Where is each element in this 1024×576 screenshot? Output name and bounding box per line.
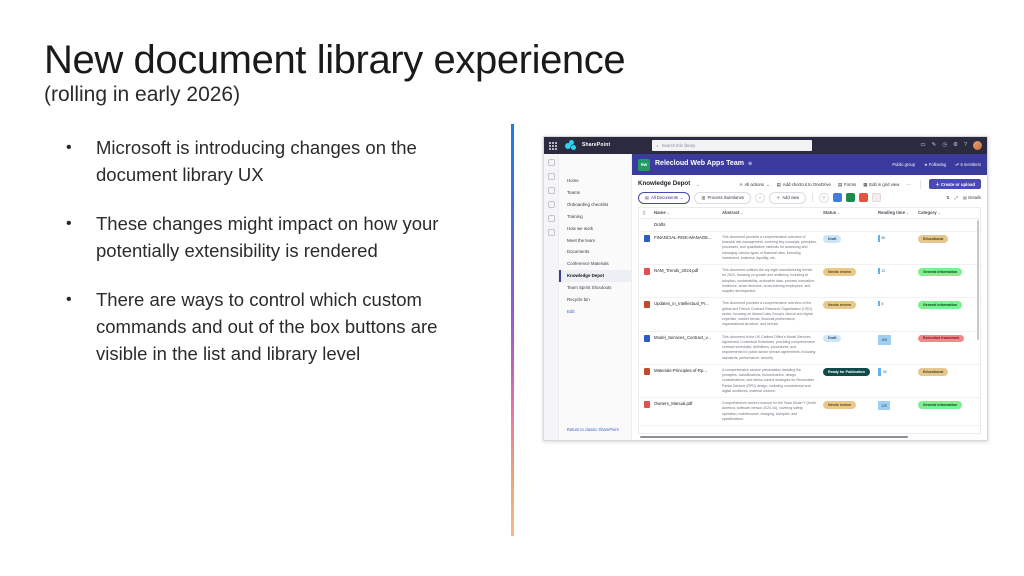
chevron-down-icon: ⌄ [766, 182, 770, 187]
sidebar-item-documents[interactable]: Documents [559, 246, 631, 258]
sidebar-item-how-we-work[interactable]: How we work [559, 223, 631, 235]
view-process-swimlanes[interactable]: ▥ Process Swimlanes [694, 192, 751, 203]
abstract-text: A comprehensive service presentation det… [722, 368, 823, 394]
search-input[interactable]: ⌕ Search this library [652, 140, 812, 151]
sidebar-item-edit[interactable]: Edit [559, 306, 631, 318]
category-badge: Educational [918, 368, 948, 376]
power-apps-icon[interactable] [833, 193, 842, 202]
file-icon[interactable] [548, 201, 555, 208]
table-row[interactable]: Owners_Manual.pdf Comprehensive owner's … [639, 398, 980, 426]
forms-icon: ▤ [838, 182, 842, 187]
bullet-marker: • [58, 134, 96, 188]
horizontal-scrollbar-thumb[interactable] [640, 436, 908, 439]
title-main: New document library experience [44, 38, 944, 83]
chat-icon[interactable]: ▭ [920, 142, 925, 149]
word-icon [644, 235, 650, 242]
board-icon: ▥ [701, 195, 705, 200]
status-badge: Draft [823, 335, 841, 343]
sidebar-item-meet-the-team[interactable]: Meet the team [559, 234, 631, 246]
actions-icon: A [740, 182, 743, 187]
more-views-button[interactable]: › [755, 193, 765, 203]
search-placeholder: Search this library [662, 143, 696, 148]
category-badge: General information [918, 268, 962, 276]
view-all-documents[interactable]: ▤ All Documents ⌄ [638, 192, 690, 203]
file-name[interactable]: FINANCIAL-RISK-MANAGE... [654, 235, 722, 240]
site-avatar: RW [638, 159, 650, 171]
table-header-row: ▯ Name Abstract Status Reading time Cate… [639, 208, 980, 219]
word-icon [644, 368, 650, 375]
column-header-reading-time[interactable]: Reading time [878, 210, 918, 215]
sidebar-item-training[interactable]: Training [559, 211, 631, 223]
abstract-text: This document outlines the top eight man… [722, 268, 823, 294]
bullet-text: There are ways to control which custom c… [96, 286, 470, 367]
bullet-marker: • [58, 286, 96, 367]
status-badge: Needs review [823, 401, 856, 409]
grid-icon: ▦ [863, 182, 867, 187]
table-row[interactable]: NAM_Trends_2024.pdf This document outlin… [639, 265, 980, 298]
reading-time-value: 400 [878, 335, 891, 345]
sharepoint-logo-icon [565, 140, 578, 151]
category-badge: General information [918, 401, 962, 409]
title-subtitle: (rolling in early 2026) [44, 83, 240, 106]
sidebar-item-recycle-bin[interactable]: Recycle bin [559, 294, 631, 306]
history-icon[interactable]: ◷ [942, 142, 947, 149]
divider [920, 180, 921, 189]
table-row[interactable]: Model_Services_Contract_v... This docume… [639, 332, 980, 365]
reading-time-value: 8 [882, 302, 884, 306]
pen-icon[interactable]: ✎ [932, 142, 937, 149]
info-icon: ▤ [963, 195, 967, 200]
divider [812, 193, 813, 202]
chevron-down-icon[interactable]: ⌄ [696, 182, 699, 187]
site-navigation: Home Teams Onboarding checklist Training… [559, 154, 632, 440]
copilot-icon[interactable] [872, 193, 881, 202]
word-icon [644, 301, 650, 308]
category-badge: Educational [918, 235, 948, 243]
create-or-upload-button[interactable]: ＋ Create or upload [929, 179, 981, 189]
table-row[interactable]: Materials-Principles-of-Rp... A comprehe… [639, 365, 980, 398]
sidebar-item-team-sprint-shoutouts[interactable]: Team Sprint Shoutouts [559, 282, 631, 294]
user-avatar[interactable] [973, 141, 982, 150]
suite-brand[interactable]: SharePoint [582, 142, 610, 148]
bullet-text: Microsoft is introducing changes on the … [96, 134, 470, 188]
people-icon: ☍ [955, 162, 959, 167]
sidebar-item-teams[interactable]: Teams [559, 187, 631, 199]
list-item: • There are ways to control which custom… [58, 286, 470, 367]
pdf-icon [644, 401, 650, 408]
chevron-down-icon: ⌄ [680, 195, 684, 200]
return-to-classic-link[interactable]: Return to classic SharePoint [567, 427, 619, 432]
page-title: New document library experience(rolling … [44, 38, 944, 107]
settings-icon[interactable] [548, 173, 555, 180]
file-name[interactable]: Model_Services_Contract_v... [654, 335, 722, 340]
file-name[interactable]: Owners_Manual.pdf [654, 401, 722, 406]
bullet-text: These changes might impact on how your p… [96, 210, 470, 264]
excel-icon[interactable] [846, 193, 855, 202]
star-icon: ★ [924, 162, 928, 167]
list-item: • Microsoft is introducing changes on th… [58, 134, 470, 188]
reading-time-value: 125 [878, 401, 890, 410]
column-header-status[interactable]: Status [823, 210, 878, 215]
overflow-menu-button[interactable]: ··· [906, 182, 910, 187]
category-badge: General information [918, 301, 962, 309]
reading-time-value: 50 [883, 370, 887, 374]
abstract-text: Comprehensive owner's manual for the Tes… [722, 401, 823, 422]
main-content: RW Relecloud Web Apps Team ⊕ Public grou… [632, 154, 987, 440]
members-button[interactable]: ☍ 6 members [955, 162, 981, 167]
column-header-abstract[interactable]: Abstract [722, 210, 823, 215]
sidebar-item-home[interactable]: Home [559, 175, 631, 187]
onedrive-icon: ▤ [777, 182, 781, 187]
sidebar-item-conference-materials[interactable]: Conference Materials [559, 258, 631, 270]
app-launcher-icon[interactable] [549, 141, 559, 151]
reading-time-value: 12 [882, 269, 886, 273]
suite-bar: SharePoint ⌕ Search this library ▭ ✎ ◷ ⚙… [544, 137, 987, 154]
circle-icon[interactable] [548, 229, 555, 236]
plus-icon: ＋ [935, 182, 939, 187]
search-icon: ⌕ [656, 143, 658, 148]
help-icon[interactable]: ? [964, 142, 967, 149]
pdf-icon [644, 268, 650, 275]
view-bar: ▤ All Documents ⌄ ▥ Process Swimlanes › … [632, 191, 987, 206]
site-title[interactable]: Relecloud Web Apps Team [655, 160, 744, 169]
list-item: • These changes might impact on how your… [58, 210, 470, 264]
site-header: RW Relecloud Web Apps Team ⊕ Public grou… [632, 154, 987, 175]
abstract-text: This document provides a comprehensive o… [722, 301, 823, 327]
status-badge: Needs review [823, 268, 856, 276]
horizontal-scrollbar-track[interactable] [638, 433, 981, 440]
column-header-name[interactable]: Name [654, 210, 722, 215]
list-icon: ▤ [645, 195, 649, 200]
edit-in-grid-view-button[interactable]: ▦ Edit in grid view [863, 182, 899, 187]
all-actions-button[interactable]: A All actions ⌄ [740, 182, 770, 187]
sort-icon[interactable]: ⇅ [946, 195, 950, 200]
document-table: ▯ Name Abstract Status Reading time Cate… [638, 207, 981, 433]
suite-icon-group: ▭ ✎ ◷ ⚙ ? [920, 141, 982, 150]
table-row[interactable]: FINANCIAL-RISK-MANAGE... This document p… [639, 232, 980, 265]
filter-icon[interactable]: ▽ [819, 193, 829, 203]
status-badge: Draft [823, 235, 841, 243]
power-automate-icon[interactable] [859, 193, 868, 202]
forms-button[interactable]: ▤ Forms [838, 182, 856, 187]
table-row[interactable]: Drafts [639, 219, 980, 232]
following-button[interactable]: ★ Following [924, 162, 946, 167]
sidebar-item-onboarding-checklist[interactable]: Onboarding checklist [559, 199, 631, 211]
command-bar: Knowledge Depot ⌄ A All actions ⌄ ▤ Add … [632, 175, 987, 191]
file-name[interactable]: Updates_in_Intellectual_Pr... [654, 301, 722, 306]
file-name[interactable]: NAM_Trends_2024.pdf [654, 268, 722, 273]
home-icon[interactable] [548, 159, 555, 166]
column-header-category[interactable]: Category [918, 210, 980, 215]
status-badge: Ready for Publication [823, 368, 870, 376]
abstract-text: This document is the UK Cabinet Office's… [722, 335, 823, 361]
vertical-scrollbar[interactable] [977, 220, 980, 340]
grid-icon[interactable] [548, 215, 555, 222]
bullet-list: • Microsoft is introducing changes on th… [58, 134, 470, 389]
word-icon [644, 335, 650, 342]
sidebar-item-knowledge-depot[interactable]: Knowledge Depot [559, 270, 631, 282]
expand-icon[interactable]: ⤢ [955, 195, 958, 200]
column-header-icon: ▯ [643, 210, 654, 215]
briefcase-icon[interactable] [548, 187, 555, 194]
globe-icon: ⊕ [748, 161, 752, 167]
add-view-button[interactable]: ＋ Add view [769, 192, 806, 203]
plus-icon: ＋ [776, 195, 780, 200]
category-badge: Execution framework [918, 335, 964, 343]
status-badge: Needs review [823, 301, 856, 309]
details-button[interactable]: ▤ Details [963, 195, 981, 200]
file-name[interactable]: Materials-Principles-of-Rp... [654, 368, 722, 373]
reading-time-value: 80 [882, 236, 886, 240]
library-title[interactable]: Knowledge Depot [638, 180, 690, 188]
add-shortcut-to-onedrive-button[interactable]: ▤ Add shortcut to OneDrive [777, 182, 831, 187]
folder-name[interactable]: Drafts [654, 222, 722, 227]
sharepoint-screenshot: SharePoint ⌕ Search this library ▭ ✎ ◷ ⚙… [543, 136, 988, 441]
table-row[interactable]: Updates_in_Intellectual_Pr... This docum… [639, 298, 980, 331]
site-privacy-label: Public group [892, 162, 915, 167]
abstract-text: This document provides a comprehensive o… [722, 235, 823, 261]
decorative-accent-line [511, 124, 514, 536]
settings-icon[interactable]: ⚙ [953, 142, 958, 149]
bullet-marker: • [58, 210, 96, 264]
app-rail [544, 154, 559, 440]
